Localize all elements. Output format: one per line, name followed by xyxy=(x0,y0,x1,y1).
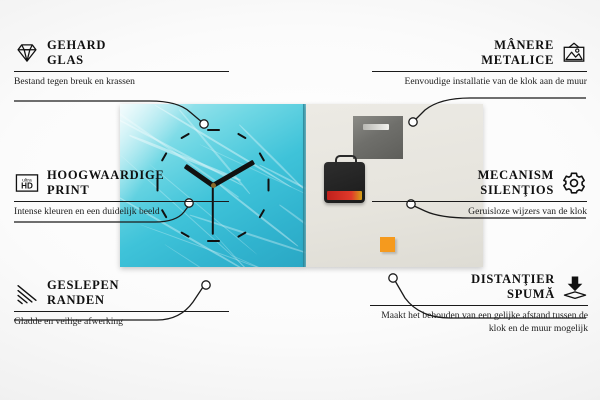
feature-title-line1: HOOGWAARDIGE xyxy=(47,168,164,183)
gear-icon xyxy=(561,170,587,196)
feature-body: Geruisloze wijzers van de klok xyxy=(372,206,587,219)
beveled-edges-icon xyxy=(14,280,40,306)
divider xyxy=(372,201,587,202)
ultra-hd-icon: ultra HD xyxy=(14,170,40,196)
feature-gehard-glas: GEHARD GLAS Bestand tegen breuk en krass… xyxy=(14,38,229,89)
wire-dot-manere-metalice xyxy=(409,118,417,126)
picture-frame-icon xyxy=(561,40,587,66)
feature-title-line1: MECANISM xyxy=(372,168,554,183)
divider xyxy=(14,201,229,202)
wire-gehard-glas xyxy=(14,101,203,123)
feature-geslepen-randen: GESLEPEN RANDEN Gladde en veilige afwerk… xyxy=(14,278,229,329)
infographic-page: GEHARD GLAS Bestand tegen breuk en krass… xyxy=(0,0,600,400)
feature-body: Intense kleuren en een duidelijk beeld xyxy=(14,206,229,219)
divider xyxy=(370,305,588,306)
feature-title-line2: METALICE xyxy=(372,53,554,68)
feature-body: Gladde en veilige afwerking xyxy=(14,316,229,329)
feature-hoogwaardige-print: ultra HD HOOGWAARDIGE PRINT Intense kleu… xyxy=(14,168,229,219)
divider xyxy=(372,71,587,72)
feature-body: Maakt het behouden van een gelijke afsta… xyxy=(370,310,588,335)
feature-title-line2: GLAS xyxy=(47,53,106,68)
feature-title-line2: SILENŢIOS xyxy=(372,183,554,198)
wire-manere-metalice xyxy=(414,98,586,121)
feature-mecanism-silentios: MECANISM SILENŢIOS Geruisloze wijzers va… xyxy=(372,168,587,219)
feature-title-line1: DISTANŢIER xyxy=(370,272,555,287)
feature-body: Bestand tegen breuk en krassen xyxy=(14,76,229,89)
down-arrow-layer-icon xyxy=(562,274,588,300)
feature-title-line1: GESLEPEN xyxy=(47,278,119,293)
svg-text:HD: HD xyxy=(21,182,33,191)
feature-distantier-spuma: DISTANŢIER SPUMĂ Maakt het behouden van … xyxy=(370,272,588,335)
diamond-icon xyxy=(14,40,40,66)
feature-manere-metalice: MÂNERE METALICE Eenvoudige installatie v… xyxy=(372,38,587,89)
divider xyxy=(14,311,229,312)
divider xyxy=(14,71,229,72)
feature-title-line1: MÂNERE xyxy=(372,38,554,53)
feature-title-line2: RANDEN xyxy=(47,293,119,308)
feature-title-line1: GEHARD xyxy=(47,38,106,53)
wire-dot-gehard-glas xyxy=(200,120,208,128)
feature-title-line2: SPUMĂ xyxy=(370,287,555,302)
feature-body: Eenvoudige installatie van de klok aan d… xyxy=(372,76,587,89)
feature-title-line2: PRINT xyxy=(47,183,164,198)
